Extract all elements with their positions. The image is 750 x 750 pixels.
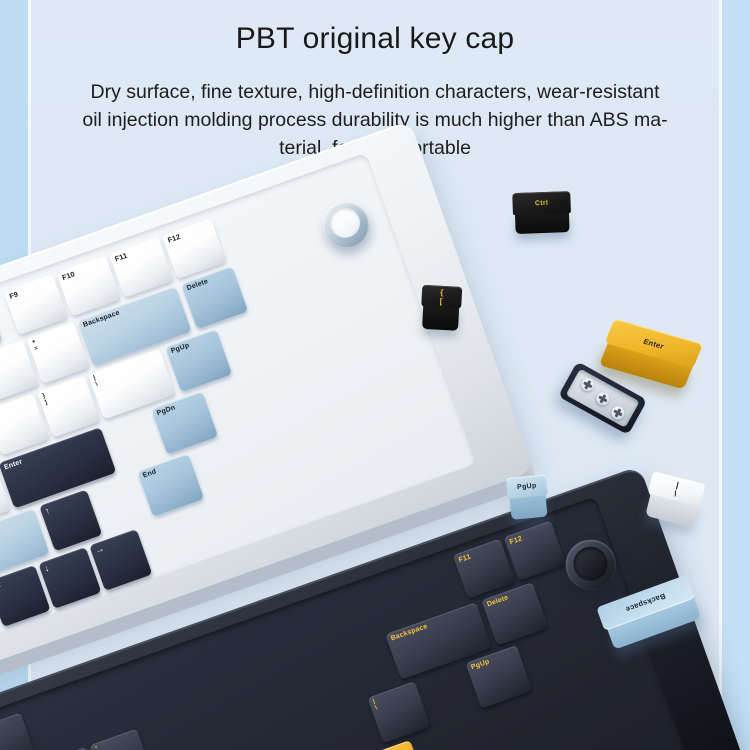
- description-line-1: Dry surface, fine texture, high-definiti…: [6, 78, 744, 106]
- dark-key-pgdn-accent[interactable]: [353, 740, 426, 750]
- key-pgdn[interactable]: PgDn: [151, 391, 218, 454]
- keycap-bracket-top: { [: [421, 285, 462, 309]
- keycap-stem-icon: [579, 376, 597, 394]
- keycap-stem-icon: [609, 404, 627, 422]
- dark-key-o[interactable]: O: [0, 713, 36, 750]
- key-delete[interactable]: Delete: [181, 266, 248, 329]
- key-arrow-right[interactable]: →: [89, 529, 152, 591]
- key-arrow-up[interactable]: ↑: [39, 489, 102, 551]
- key-f12[interactable]: F12: [162, 218, 226, 279]
- dark-key-backslash[interactable]: | \: [367, 681, 430, 743]
- key-f10[interactable]: F10: [56, 256, 120, 317]
- keycap-stem-icon: [594, 390, 612, 408]
- loose-keycap-ctrl: Ctrl: [512, 191, 576, 239]
- key-f11[interactable]: F11: [109, 237, 173, 298]
- keycap-pgup-top: PgUp: [506, 475, 548, 499]
- dark-key-f11[interactable]: F11: [453, 539, 515, 599]
- dark-key-pgup[interactable]: PgUp: [465, 645, 532, 708]
- dark-key-quote[interactable]: " ': [89, 729, 152, 750]
- description-line-2: oil injection molding process durability…: [6, 106, 744, 134]
- product-image-canvas: PBT original key cap Dry surface, fine t…: [0, 0, 750, 750]
- keycap-ctrl-top: Ctrl: [512, 191, 571, 215]
- key-pgup[interactable]: PgUp: [165, 329, 232, 392]
- key-end[interactable]: End: [137, 453, 204, 516]
- dark-key-delete[interactable]: Delete: [481, 582, 548, 645]
- page-title: PBT original key cap: [0, 22, 750, 56]
- loose-keycap-pgup: PgUp: [506, 474, 556, 526]
- key-f9[interactable]: F9: [4, 274, 68, 335]
- loose-keycap-bracket: { [: [420, 285, 469, 337]
- dark-key-f12[interactable]: F12: [504, 521, 566, 581]
